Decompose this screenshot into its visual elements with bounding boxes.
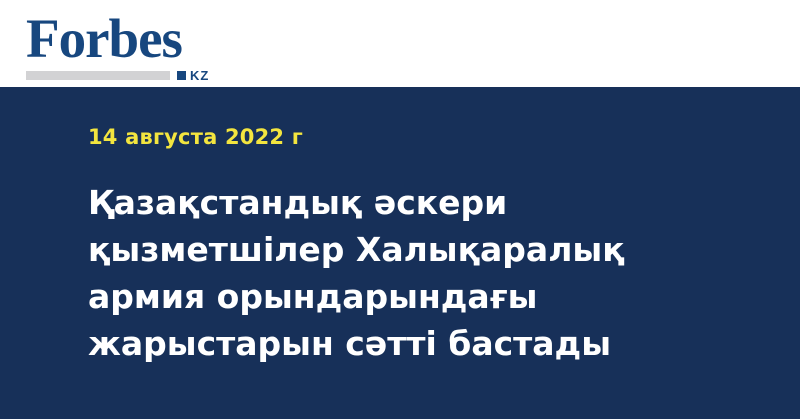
article-date: 14 августа 2022 г	[88, 125, 303, 149]
forbes-kz-logo[interactable]: Forbes KZ	[26, 11, 226, 79]
headline-line: Қазақстандық әскери	[88, 179, 648, 226]
headline-line: армия орындарындағы	[88, 273, 648, 320]
logo-blue-square-icon	[177, 71, 186, 80]
article-headline: Қазақстандық әскери қызметшілер Халықара…	[88, 179, 648, 367]
headline-line: жарыстарын сәтті бастады	[88, 320, 648, 367]
logo-kz-suffix: KZ	[190, 69, 209, 82]
headline-line: қызметшілер Халықаралық	[88, 226, 648, 273]
article-hero: 14 августа 2022 г Қазақстандық әскери қы…	[0, 87, 800, 419]
article-card: Forbes KZ 14 августа 2022 г Қазақстандық…	[0, 0, 800, 419]
logo-gray-rule	[26, 71, 170, 80]
forbes-wordmark: Forbes	[26, 11, 182, 67]
site-header: Forbes KZ	[0, 0, 800, 87]
